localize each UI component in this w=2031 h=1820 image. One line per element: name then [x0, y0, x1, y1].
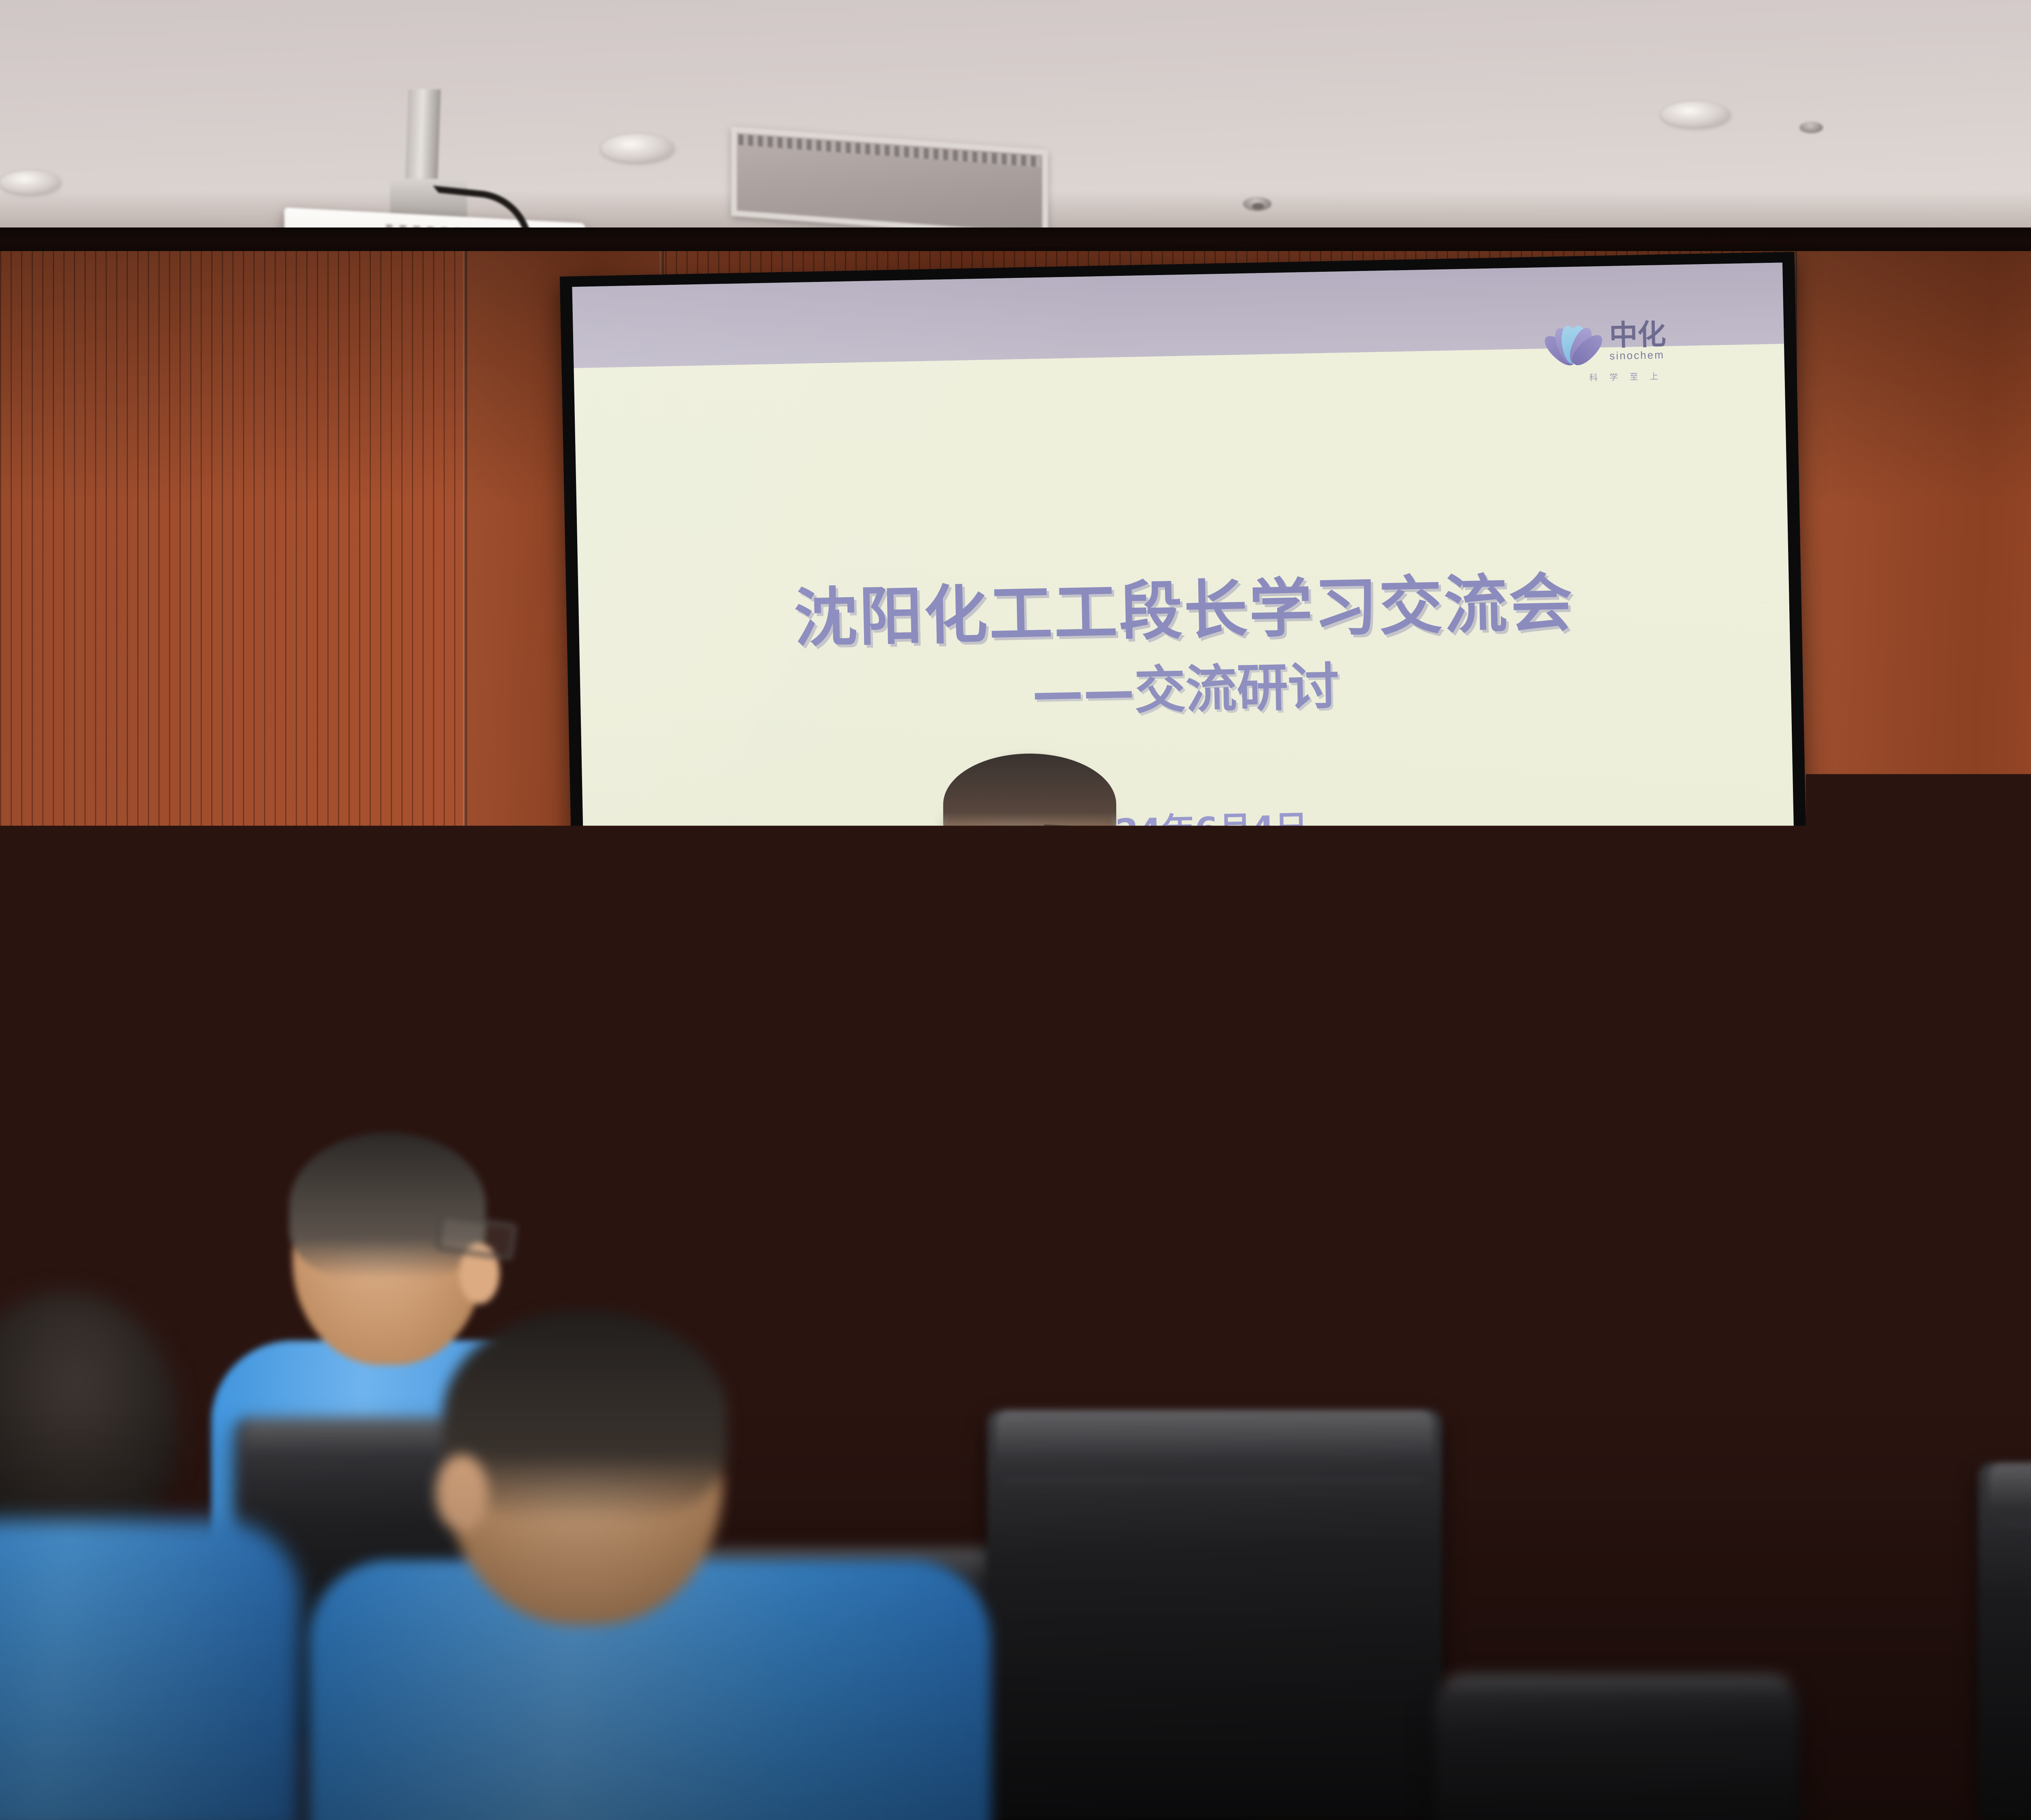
chair — [1434, 1674, 1799, 1820]
downlight-icon — [601, 134, 674, 162]
chair-seam — [2000, 1523, 2031, 1525]
audience-hair — [289, 1133, 486, 1279]
thermos-spout — [1085, 1301, 1109, 1352]
teacup-knob — [1617, 1454, 1632, 1478]
lotus-icon — [1165, 1083, 1183, 1098]
sinochem-logo: 中化 sinochem — [1546, 318, 1667, 366]
presenter-name-badge — [909, 1071, 1004, 1111]
audience-shoulders — [0, 1519, 301, 1820]
presenter-company-badge: 中化 — [1137, 1069, 1239, 1112]
teacup-icon — [1580, 1454, 1669, 1592]
presenter-finger — [976, 1265, 1071, 1293]
teacup-handle — [1659, 1512, 1682, 1571]
chair-highlight — [1441, 1674, 1792, 1696]
logo-chinese-text: 中化 — [1609, 320, 1666, 350]
nameplate: 中化 郭廷会 — [762, 1448, 964, 1551]
chair — [987, 1410, 1442, 1820]
sprinkler-head-icon — [1799, 122, 1823, 133]
logo-tagline: 科 学 至 上 — [1589, 370, 1663, 383]
chair-highlight — [1989, 1462, 2031, 1509]
chair-seam — [1005, 1480, 1424, 1482]
downlight-icon — [1661, 102, 1730, 128]
nameplate-logo-text: 中化 — [795, 1461, 813, 1475]
presenter-mouth — [991, 912, 1064, 931]
slide-corporate-footer: 中国中化控股有限责任公司 Sinochem Holdings Corporati… — [1463, 1003, 1693, 1051]
chair — [1978, 1462, 2031, 1820]
badge-logo-text: 中化 — [1186, 1081, 1211, 1099]
corp-name-chinese: 中国中化控股有限责任公司 — [1463, 1003, 1692, 1033]
eyeglass-lens — [955, 836, 1015, 872]
downlight-icon — [0, 171, 61, 194]
microphone-color-band — [1014, 1055, 1071, 1079]
eyeglass-bridge — [1015, 849, 1047, 852]
conference-room-scene: 中化 sinochem 科 学 至 上 沈阳化工工段长学习交流会 ——交流研讨 … — [0, 0, 2031, 1820]
wall-dark-band — [0, 227, 2031, 251]
sprinkler-head-icon — [1252, 203, 1264, 210]
lotus-icon — [1546, 319, 1601, 366]
microphone-head — [1020, 947, 1064, 1032]
eyeglasses-icon — [955, 836, 1109, 873]
logo-english-text: sinochem — [1609, 349, 1667, 362]
eyeglass-lens — [1047, 836, 1108, 872]
chair-highlight — [996, 1410, 1433, 1463]
audience-ear — [435, 1454, 488, 1532]
nameplate-name: 郭廷会 — [763, 1477, 964, 1532]
presenter-nose — [1013, 873, 1042, 908]
teacup-pattern-band — [1585, 1534, 1664, 1554]
wall-panel-plain — [1795, 227, 2031, 1487]
